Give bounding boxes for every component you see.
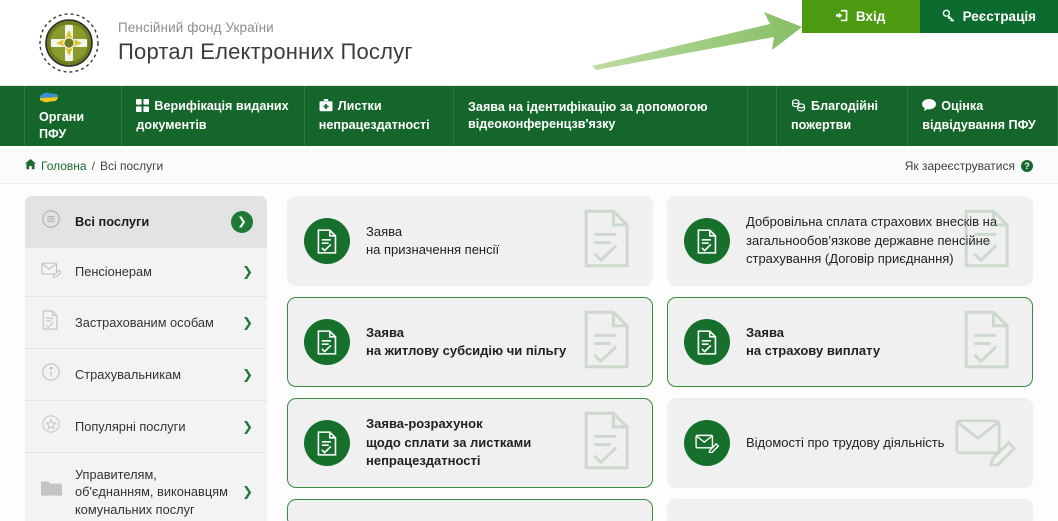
annotation-arrow-icon (588, 8, 820, 75)
envelope-pencil-watermark-icon (954, 415, 1016, 472)
star-circle-icon (41, 414, 63, 439)
chevron-right-icon[interactable]: ❯ (242, 264, 253, 280)
chevron-right-circle-icon[interactable]: ❯ (231, 211, 253, 233)
sidebar-item-policyholders[interactable]: Страхувальникам ❯ (25, 349, 267, 401)
page-content: Всі послуги ❯ Пенсіонерам ❯ (0, 184, 1058, 521)
document-check-watermark-icon (960, 209, 1016, 274)
service-card-housing-subsidy[interactable]: Заявана житлову субсидію чи пільгу (287, 297, 653, 387)
main-navigation: Органи ПФУ Верифікація виданих документі… (0, 86, 1058, 148)
chevron-right-icon[interactable]: ❯ (242, 484, 253, 500)
sidebar-item-managers-associations-label: Управителям, об'єднанням, виконавцям ком… (75, 466, 230, 518)
nav-item-video-identification[interactable]: Заява на ідентифікацію за допомогою віде… (454, 86, 748, 146)
nav-item-video-identification-label: Заява на ідентифікацію за допомогою віде… (468, 99, 733, 133)
brand-title: Портал Електронних Послуг (118, 39, 413, 65)
services-sidebar: Всі послуги ❯ Пенсіонерам ❯ (25, 196, 267, 521)
login-button[interactable]: Вхід (802, 0, 920, 33)
login-button-label: Вхід (856, 9, 885, 24)
chevron-right-icon[interactable]: ❯ (242, 315, 253, 331)
page-header: Пенсійний фонд України Портал Електронни… (0, 0, 1058, 86)
pension-fund-emblem-icon (38, 12, 100, 74)
document-check-watermark-icon (580, 411, 636, 476)
grid-documents-icon (136, 99, 149, 117)
sidebar-item-all-services-label: Всі послуги (75, 213, 219, 230)
document-check-icon (304, 319, 350, 365)
nav-item-charity-donations[interactable]: Благодійні пожертви (777, 86, 908, 146)
chevron-right-icon[interactable]: ❯ (242, 367, 253, 383)
chevron-right-icon[interactable]: ❯ (242, 419, 253, 435)
nav-item-organy-pfu-label: Органи ПФУ (39, 110, 84, 141)
breadcrumb-current: Всі послуги (100, 159, 163, 173)
nav-item-organy-pfu[interactable]: Органи ПФУ (25, 86, 122, 146)
list-circle-icon (41, 209, 63, 234)
service-card-title: Відомості про трудову діяльність (746, 434, 944, 452)
medical-bag-icon (319, 99, 333, 117)
document-check-icon (684, 218, 730, 264)
envelope-pencil-icon (41, 261, 63, 283)
service-card-title: Заявана житлову субсидію чи пільгу (366, 324, 566, 361)
document-check-icon (304, 420, 350, 466)
brand-block: Пенсійний фонд України Портал Електронни… (118, 20, 413, 65)
sidebar-item-pensioners[interactable]: Пенсіонерам ❯ (25, 248, 267, 297)
nav-item-verification[interactable]: Верифікація виданих документів (122, 86, 304, 146)
service-card-insurance-payment[interactable]: Заявана страхову виплату (667, 297, 1033, 387)
register-button-label: Реєстрація (963, 9, 1036, 24)
document-check-icon (684, 319, 730, 365)
envelope-pencil-icon (684, 420, 730, 466)
document-check-icon (304, 218, 350, 264)
service-card-title: Заявана страхову виплату (746, 324, 880, 361)
how-to-register-link[interactable]: Як зареєструватися ? (905, 159, 1033, 173)
document-check-watermark-icon (580, 310, 636, 375)
nav-item-sick-leave[interactable]: Листки непрацездатності (305, 86, 454, 146)
sidebar-item-popular-services[interactable]: Популярні послуги ❯ (25, 401, 267, 453)
sidebar-item-policyholders-label: Страхувальникам (75, 366, 230, 383)
nav-left-spacer (0, 86, 25, 146)
nav-item-visit-rating-label: Оцінка відвідування ПФУ (922, 99, 1035, 132)
service-card-employment-records[interactable]: Відомості про трудову діяльність (667, 398, 1033, 488)
sidebar-item-popular-services-label: Популярні послуги (75, 418, 230, 435)
key-icon (942, 8, 956, 25)
home-icon (25, 159, 36, 173)
service-card-voluntary-contributions[interactable]: Добровільна сплата страхових внесків на … (667, 196, 1033, 286)
folder-icon (41, 480, 63, 503)
sidebar-item-all-services[interactable]: Всі послуги ❯ (25, 196, 267, 248)
sidebar-item-insured-persons[interactable]: Застрахованим особам ❯ (25, 297, 267, 349)
nav-item-sick-leave-label: Листки непрацездатності (319, 99, 430, 132)
breadcrumb: Головна / Всі послуги (25, 159, 163, 173)
service-card-partial-next-row[interactable] (667, 499, 1033, 521)
breadcrumb-separator: / (92, 159, 95, 173)
ukraine-map-icon (39, 90, 59, 109)
nav-item-visit-rating[interactable]: Оцінка відвідування ПФУ (908, 86, 1058, 146)
breadcrumb-home-link[interactable]: Головна (41, 159, 87, 173)
sidebar-item-pensioners-label: Пенсіонерам (75, 263, 230, 280)
service-card-title: Заявана призначення пенсії (366, 223, 499, 260)
document-check-watermark-icon (960, 310, 1016, 375)
service-card-partial-next-row[interactable] (287, 499, 653, 521)
service-card-sick-leave-calculation[interactable]: Заява-розрахунокщодо сплати за листками … (287, 398, 653, 488)
document-check-icon (41, 310, 63, 335)
services-grid: Заявана призначення пенсії Добровільна с… (287, 196, 1033, 521)
nav-empty-spacer (748, 86, 777, 146)
sign-in-icon (836, 9, 849, 25)
service-card-pension-application[interactable]: Заявана призначення пенсії (287, 196, 653, 286)
sidebar-item-managers-associations[interactable]: Управителям, об'єднанням, виконавцям ком… (25, 453, 267, 521)
speech-bubble-icon (922, 99, 936, 117)
question-mark-icon[interactable]: ? (1021, 160, 1033, 172)
info-circle-icon (41, 362, 63, 387)
register-button[interactable]: Реєстрація (920, 0, 1058, 33)
brand-subtitle: Пенсійний фонд України (118, 20, 413, 35)
nav-item-verification-label: Верифікація виданих документів (136, 99, 288, 132)
breadcrumb-bar: Головна / Всі послуги Як зареєструватися… (0, 148, 1058, 184)
how-to-register-label: Як зареєструватися (905, 159, 1015, 173)
auth-buttons: Вхід Реєстрація (802, 0, 1058, 33)
document-check-watermark-icon (580, 209, 636, 274)
sidebar-item-insured-persons-label: Застрахованим особам (75, 314, 230, 331)
coins-icon (791, 98, 806, 117)
